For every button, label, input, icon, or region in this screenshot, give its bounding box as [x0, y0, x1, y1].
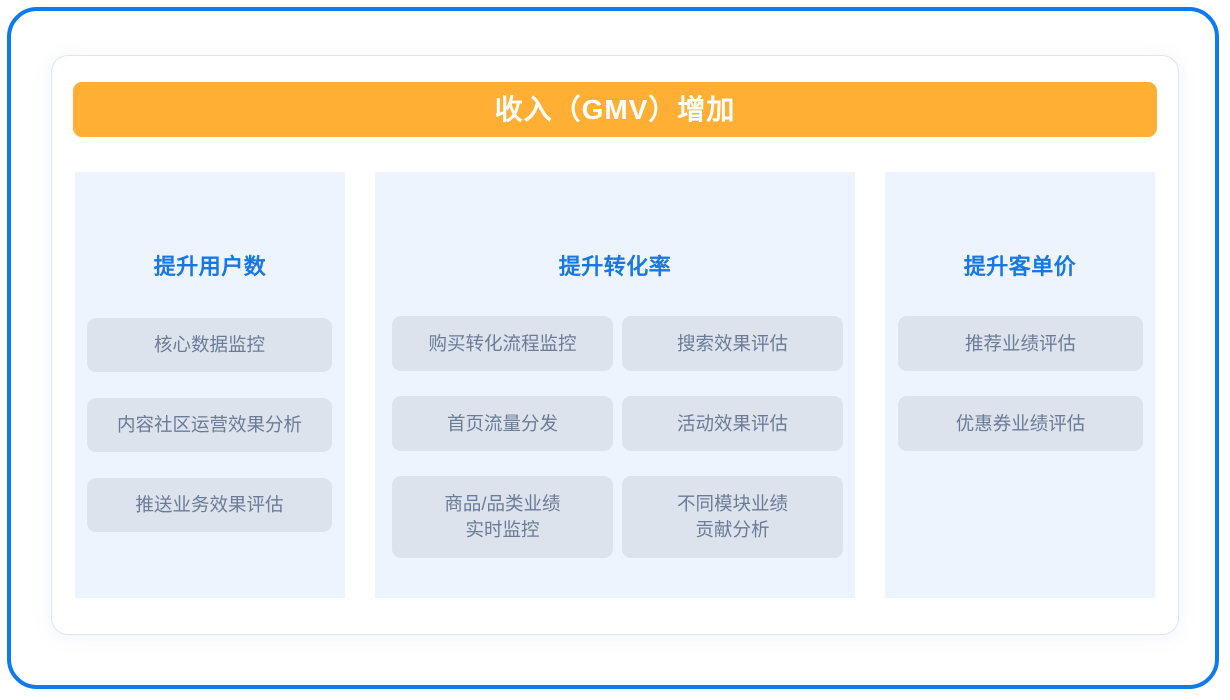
chip-conversion-1-label: 搜索效果评估 — [677, 331, 788, 357]
chip-users-0-label: 核心数据监控 — [154, 332, 265, 358]
chip-conversion-0[interactable]: 购买转化流程监控 — [392, 316, 613, 371]
column-title-users: 提升用户数 — [75, 256, 345, 278]
chip-aov-0-label: 推荐业绩评估 — [965, 331, 1076, 357]
column-title-aov-label: 提升客单价 — [964, 254, 1077, 279]
column-title-users-label: 提升用户数 — [154, 254, 267, 279]
chip-conversion-5[interactable]: 不同模块业绩 贡献分析 — [622, 476, 843, 558]
chip-conversion-2-label: 首页流量分发 — [447, 411, 558, 437]
chip-users-2[interactable]: 推送业务效果评估 — [87, 478, 332, 532]
chip-conversion-3[interactable]: 活动效果评估 — [622, 396, 843, 451]
chip-conversion-4-label: 商品/品类业绩 实时监控 — [444, 491, 560, 542]
pillar-shape-aov — [885, 172, 1155, 598]
chip-users-2-label: 推送业务效果评估 — [135, 492, 283, 518]
column-title-aov: 提升客单价 — [885, 256, 1155, 278]
column-title-conversion-label: 提升转化率 — [559, 254, 672, 279]
chip-users-0[interactable]: 核心数据监控 — [87, 318, 332, 372]
chip-users-1[interactable]: 内容社区运营效果分析 — [87, 398, 332, 452]
chip-conversion-4[interactable]: 商品/品类业绩 实时监控 — [392, 476, 613, 558]
chip-users-1-label: 内容社区运营效果分析 — [117, 412, 302, 438]
pillar-shape-users — [75, 172, 345, 598]
chip-conversion-2[interactable]: 首页流量分发 — [392, 396, 613, 451]
chip-conversion-5-label: 不同模块业绩 贡献分析 — [677, 491, 788, 542]
column-title-conversion: 提升转化率 — [375, 256, 855, 278]
chip-conversion-0-label: 购买转化流程监控 — [428, 331, 576, 357]
chip-aov-1[interactable]: 优惠券业绩评估 — [898, 396, 1143, 451]
chip-conversion-3-label: 活动效果评估 — [677, 411, 788, 437]
diagram-canvas: 收入（GMV）增加 提升用户数 核心数据监控 内容社区运营效果分析 推送业务效果… — [0, 0, 1230, 700]
gmv-banner: 收入（GMV）增加 — [73, 82, 1157, 137]
chip-aov-1-label: 优惠券业绩评估 — [956, 411, 1086, 437]
banner-title: 收入（GMV）增加 — [495, 96, 736, 124]
chip-conversion-1[interactable]: 搜索效果评估 — [622, 316, 843, 371]
chip-aov-0[interactable]: 推荐业绩评估 — [898, 316, 1143, 371]
